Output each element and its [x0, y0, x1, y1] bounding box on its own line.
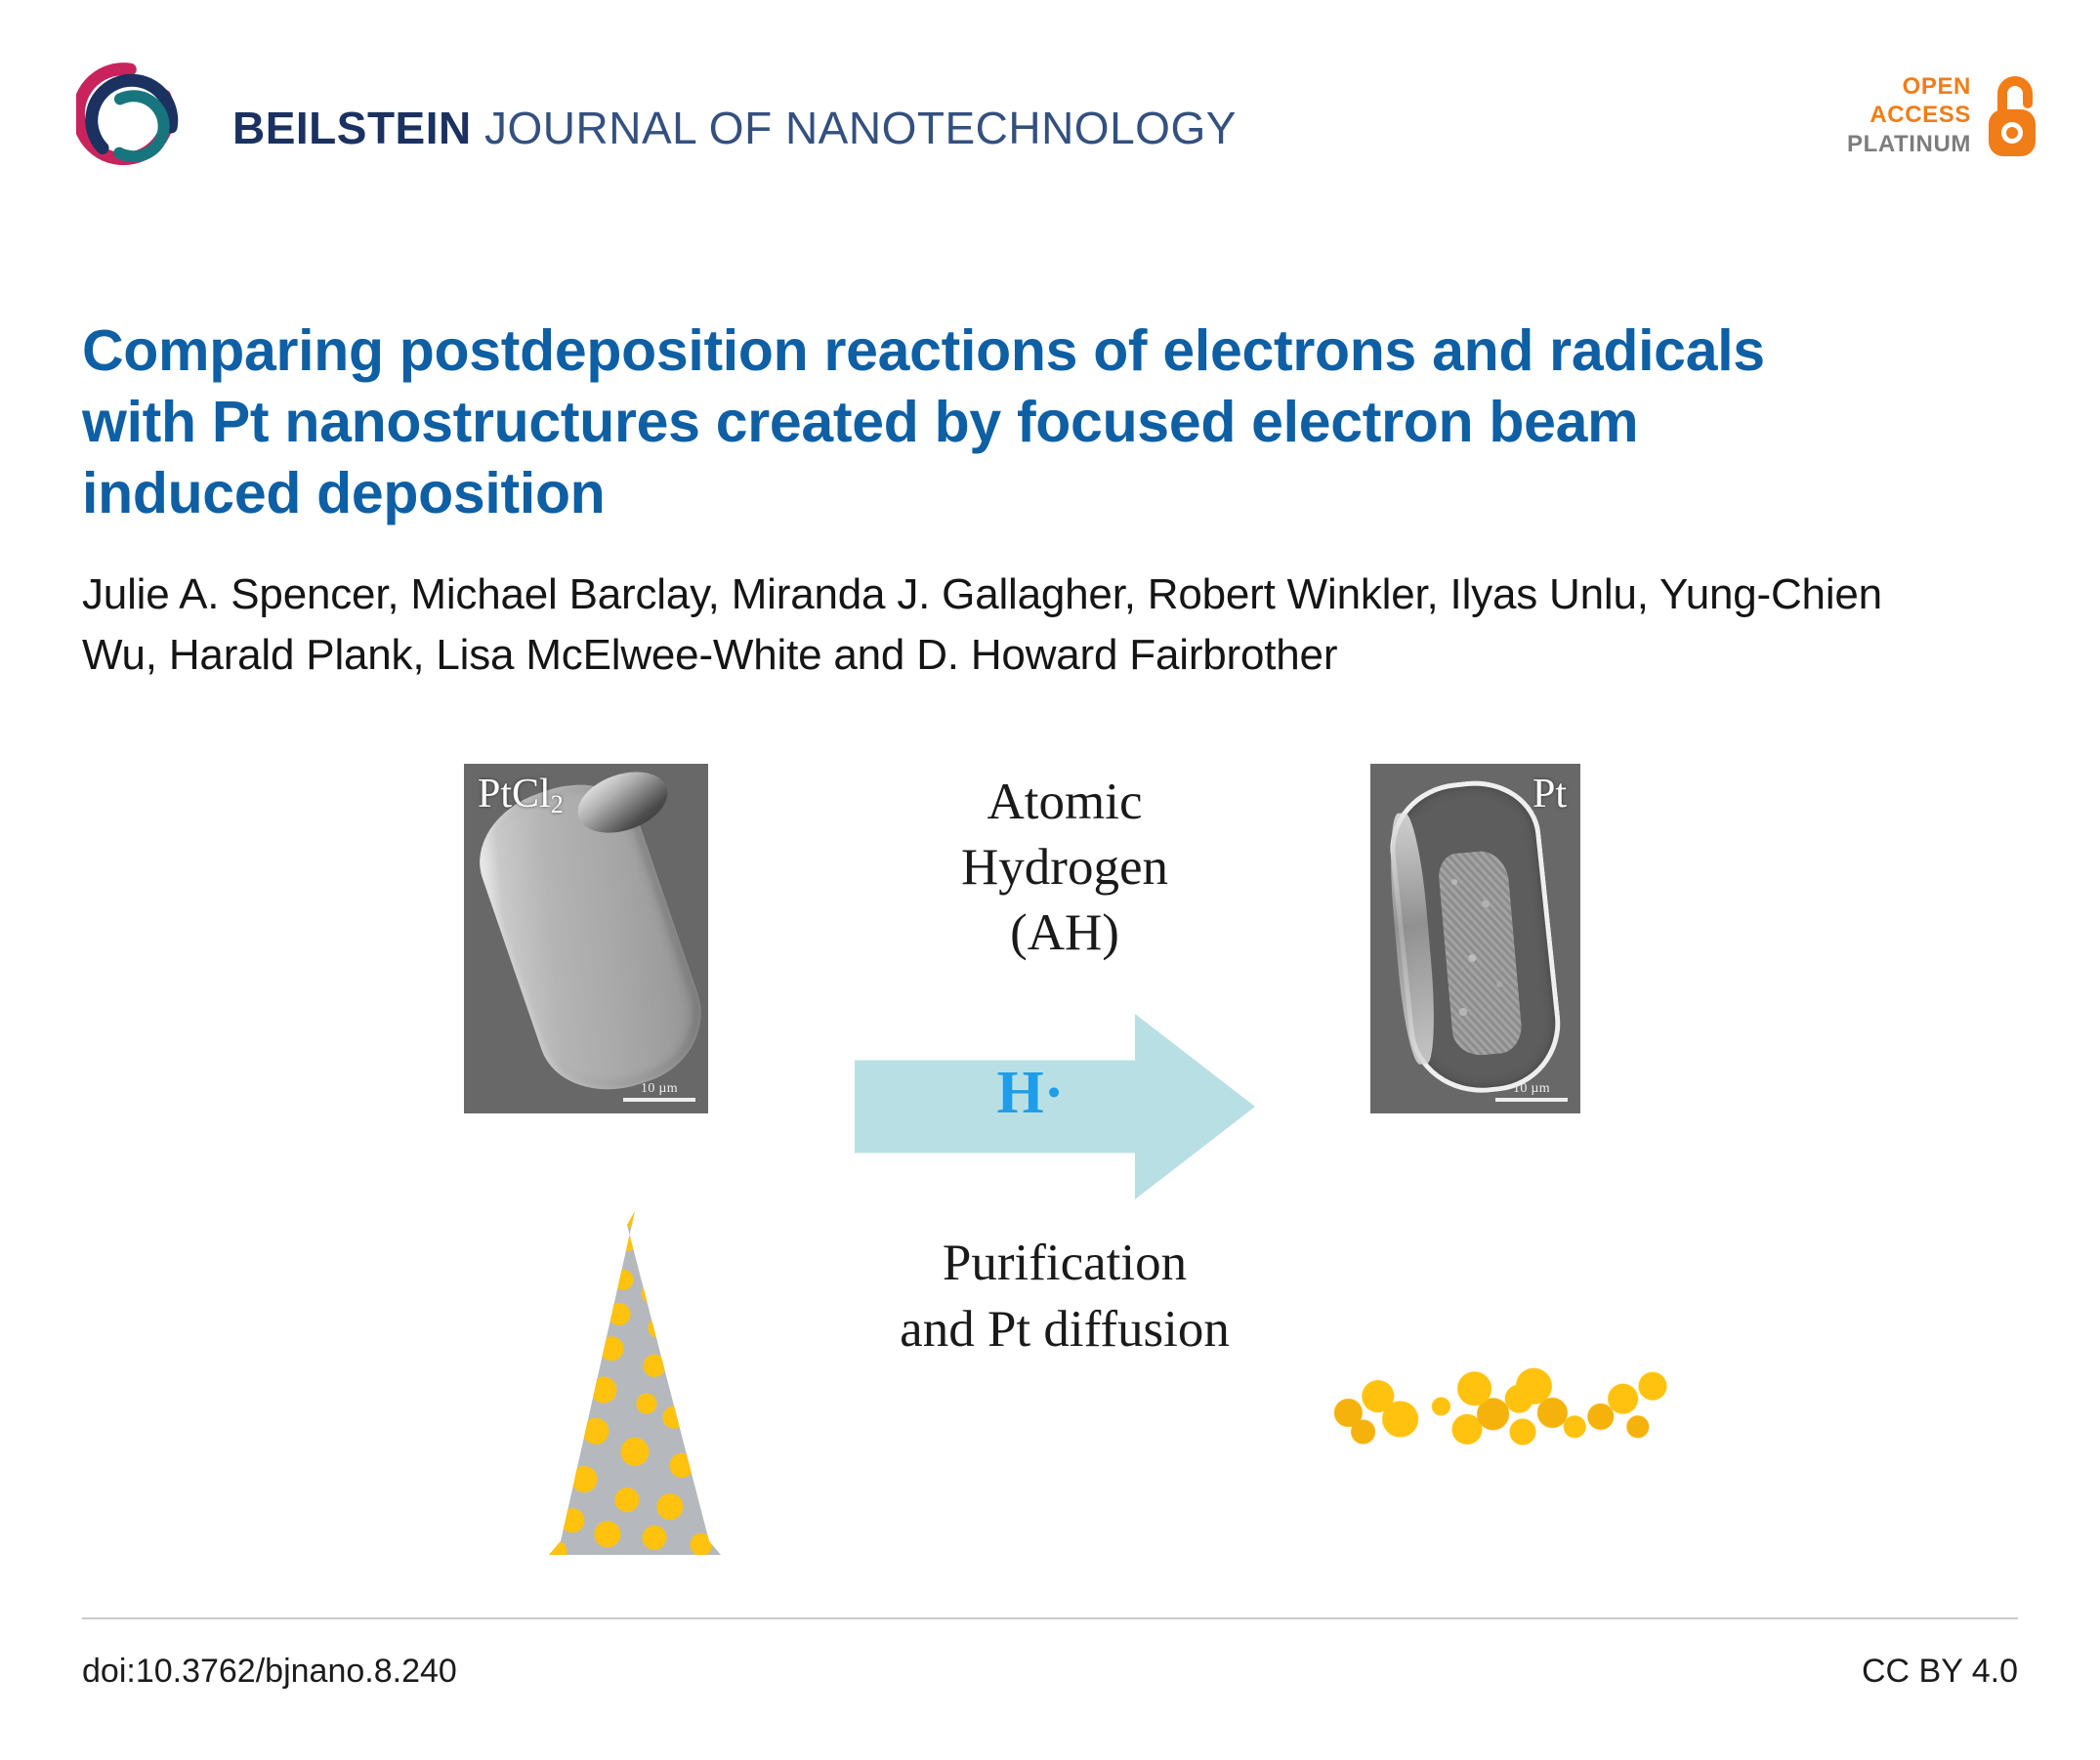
sem-right-scalebar-line	[1495, 1098, 1568, 1102]
oa-line-open: OPEN	[1847, 72, 1971, 101]
oa-line-platinum: PLATINUM	[1847, 130, 1971, 158]
reaction-arrow: H·	[855, 1014, 1255, 1199]
graphical-abstract: PtCl2 10 µm Pt 10 µm Atomic Hydrogen (AH…	[410, 742, 1719, 1582]
open-access-wordmark: OPEN ACCESS PLATINUM	[1847, 72, 1971, 158]
journal-subtitle: JOURNAL OF NANOTECHNOLOGY	[472, 103, 1237, 153]
open-padlock-icon	[1983, 70, 2043, 160]
reaction-label-line3: (AH)	[791, 901, 1338, 966]
sem-image-pt: Pt 10 µm	[1370, 764, 1580, 1113]
sem-right-scalebar-text: 10 µm	[1495, 1081, 1568, 1096]
author-list: Julie A. Spencer, Michael Barclay, Miran…	[82, 565, 1967, 687]
cone-schematic-as-deposited	[537, 1211, 733, 1555]
reaction-label-line5: and Pt diffusion	[772, 1297, 1358, 1363]
page-header: BEILSTEIN JOURNAL OF NANOTECHNOLOGY OPEN…	[0, 0, 2100, 195]
doi-text: doi:10.3762/bjnano.8.240	[82, 1653, 457, 1691]
reaction-label-line2: Hydrogen	[791, 835, 1338, 901]
sem-right-label: Pt	[1533, 774, 1567, 815]
journal-brand: BEILSTEIN	[232, 103, 472, 153]
sem-right-scalebar: 10 µm	[1495, 1081, 1568, 1102]
page-title: Comparing postdeposition reactions of el…	[82, 315, 1801, 529]
sem-left-scalebar: 10 µm	[623, 1081, 695, 1102]
sem-left-label-subscript: 2	[551, 790, 564, 818]
beilstein-triple-arc-logo-icon	[76, 61, 191, 176]
reaction-label-top: Atomic Hydrogen (AH)	[791, 770, 1338, 965]
sem-left-label-text: PtCl	[478, 772, 551, 817]
footer-divider	[82, 1617, 2018, 1619]
reaction-label-line4: Purification	[772, 1231, 1358, 1297]
reaction-label-line1: Atomic	[791, 770, 1338, 835]
reaction-label-bottom: Purification and Pt diffusion	[772, 1231, 1358, 1363]
page-footer: doi:10.3762/bjnano.8.240 CC BY 4.0	[82, 1653, 2018, 1691]
oa-line-access: ACCESS	[1847, 101, 1971, 129]
sem-left-scalebar-line	[623, 1098, 695, 1102]
sem-left-scalebar-text: 10 µm	[623, 1081, 695, 1096]
reaction-arrow-label: H·	[952, 1063, 1109, 1123]
journal-title: BEILSTEIN JOURNAL OF NANOTECHNOLOGY	[232, 105, 1237, 150]
sem-left-label: PtCl2	[478, 774, 564, 815]
sem-image-ptcl2: PtCl2 10 µm	[464, 764, 708, 1113]
license-text: CC BY 4.0	[1862, 1653, 2018, 1691]
cone-pt-nanoparticles	[537, 1211, 733, 1555]
open-access-badge: OPEN ACCESS PLATINUM	[1847, 70, 2043, 160]
purified-pt-clusters-schematic	[1319, 1343, 1690, 1470]
